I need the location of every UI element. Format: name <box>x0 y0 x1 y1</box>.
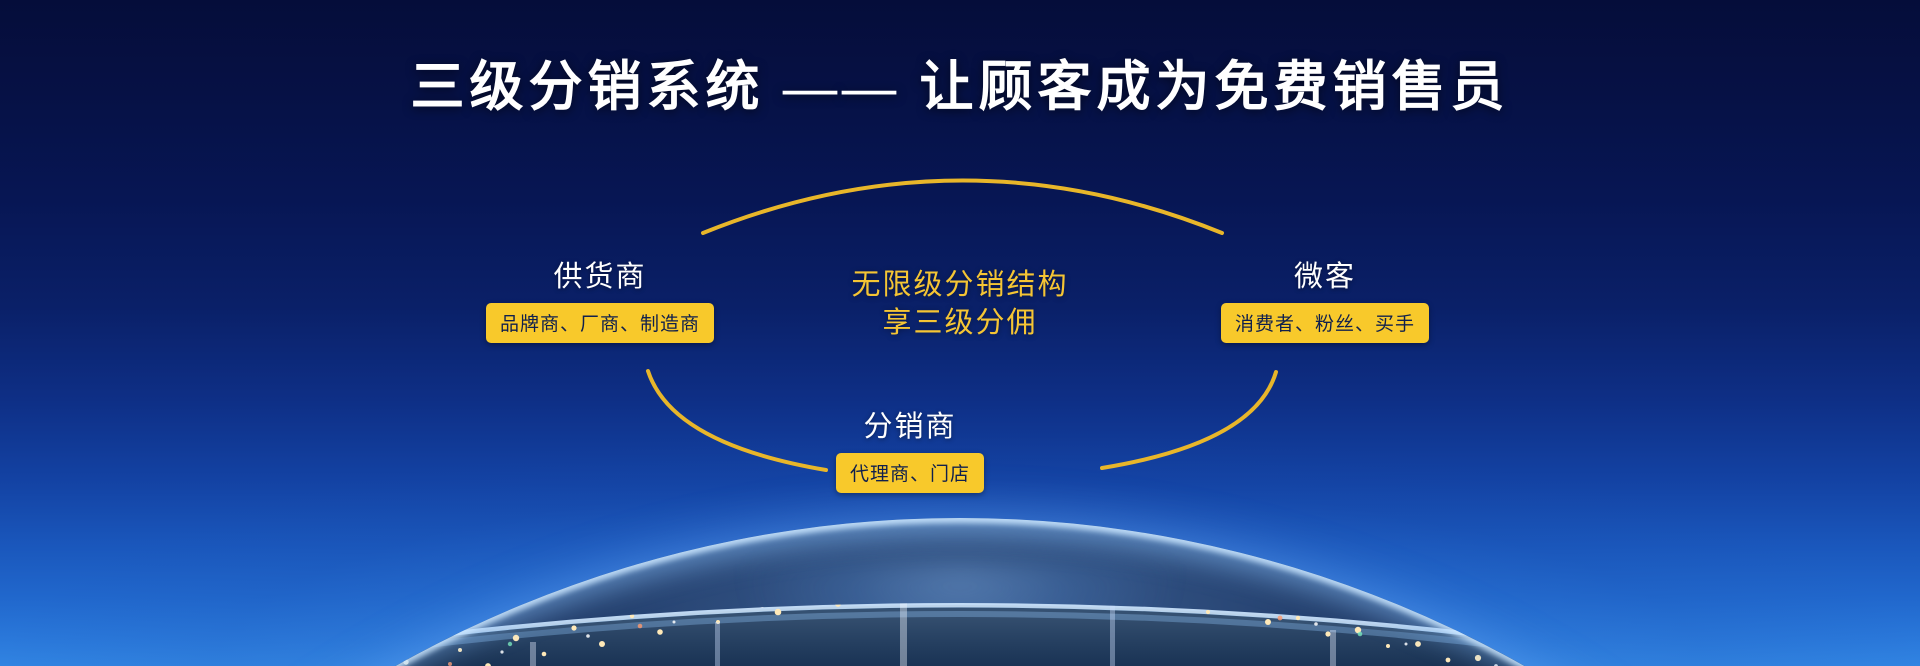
globe-ocean-sheen <box>680 564 1240 666</box>
top-arc <box>703 181 1222 234</box>
node-weike-label: 微客 <box>1120 262 1530 294</box>
center-statement: 无限级分销结构 享三级分佣 <box>760 266 1160 343</box>
center-statement-line1: 无限级分销结构 <box>760 266 1160 304</box>
promo-banner: 三级分销系统 —— 让顾客成为免费销售员 供货商 品牌商、厂商、制造商 微客 消… <box>0 0 1920 666</box>
node-weike: 微客 消费者、粉丝、买手 <box>1120 262 1530 343</box>
node-supplier: 供货商 品牌商、厂商、制造商 <box>395 262 805 343</box>
node-distributor: 分销商 代理商、门店 <box>705 412 1115 493</box>
right-arc <box>1102 372 1276 468</box>
horizon-glow <box>0 246 1920 666</box>
night-city-globe <box>0 518 1920 666</box>
node-supplier-badge: 品牌商、厂商、制造商 <box>486 303 714 343</box>
page-title: 三级分销系统 —— 让顾客成为免费销售员 <box>0 42 1920 121</box>
center-statement-line2: 享三级分佣 <box>760 304 1160 342</box>
globe-rim-highlight <box>0 518 1920 666</box>
node-distributor-label: 分销商 <box>705 412 1115 444</box>
globe-sphere <box>0 518 1920 666</box>
node-distributor-badge: 代理商、门店 <box>836 453 984 493</box>
left-arc <box>648 371 826 470</box>
node-supplier-label: 供货商 <box>395 262 805 294</box>
city-lights-belt <box>0 518 1920 666</box>
node-weike-badge: 消费者、粉丝、买手 <box>1221 303 1429 343</box>
